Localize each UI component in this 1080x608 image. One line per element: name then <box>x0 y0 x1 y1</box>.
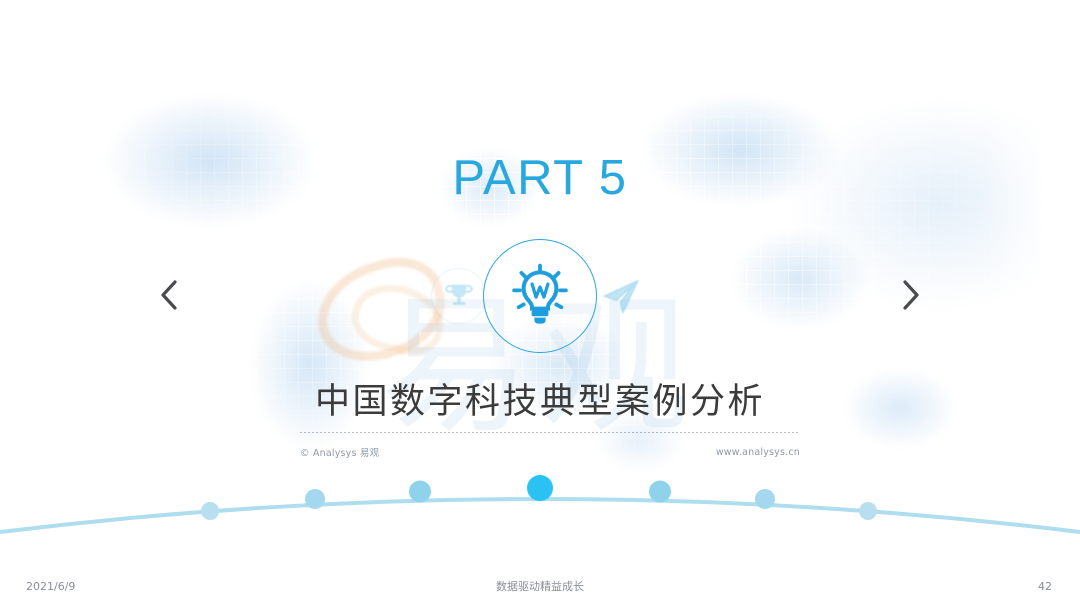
progress-dot-5[interactable] <box>649 481 671 503</box>
carousel-next-button[interactable] <box>888 272 934 318</box>
section-title: 中国数字科技典型案例分析 <box>0 373 1080 424</box>
progress-arc-line <box>0 499 1080 532</box>
carousel-item-lightbulb-active[interactable] <box>483 239 597 353</box>
lightbulb-icon <box>504 260 576 332</box>
progress-dot-7[interactable] <box>859 502 877 520</box>
progress-dot-2[interactable] <box>305 489 325 509</box>
brand-copyright: © Analysys 易观 <box>300 445 379 459</box>
carousel-prev-button[interactable] <box>146 272 192 318</box>
chevron-right-icon <box>898 278 924 312</box>
carousel-item-ring <box>593 268 649 324</box>
brand-divider <box>300 432 800 433</box>
chevron-left-icon <box>156 278 182 312</box>
footer-page-number: 42 <box>1038 580 1052 593</box>
footer-tagline: 数据驱动精益成长 <box>0 578 1080 594</box>
progress-dot-3[interactable] <box>409 481 431 503</box>
brand-website: www.analysys.cn <box>716 447 800 458</box>
progress-dot-4-active[interactable] <box>527 475 553 501</box>
part-label: PART 5 <box>0 150 1080 206</box>
brand-bar: © Analysys 易观 www.analysys.cn <box>300 432 800 468</box>
progress-arc <box>0 466 1080 546</box>
carousel-item-ring <box>431 268 487 324</box>
progress-dot-1[interactable] <box>201 502 219 520</box>
slide-footer: 2021/6/9 数据驱动精益成长 42 <box>0 564 1080 608</box>
presentation-slide: 易观 PART 5 <box>0 0 1080 608</box>
progress-dot-6[interactable] <box>755 489 775 509</box>
